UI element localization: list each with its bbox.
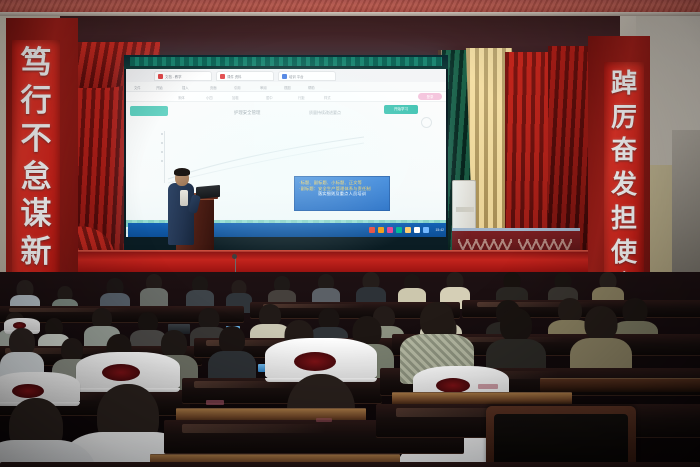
align-center-button[interactable]: 居中 xyxy=(266,95,273,100)
browser-icon[interactable] xyxy=(369,227,375,233)
auditorium-photo: 文档 - 教学 课件 资料 培训 平台 文件 开始 插入 页面 引用 审阅 xyxy=(0,0,700,467)
screen-green-strip xyxy=(130,57,442,66)
audience-member xyxy=(356,272,386,306)
taskbar-clock: 15:42 xyxy=(436,228,445,232)
highlight-callout-box: ·标题、副标题、小标题、正文等 ·副标题：安全生产管理体系与责任制 落实细则及重… xyxy=(294,176,390,211)
toolbar-item-file[interactable]: 文件 xyxy=(134,85,141,90)
browser-tab[interactable]: 文档 - 教学 xyxy=(154,71,212,81)
folder-icon[interactable] xyxy=(405,227,411,233)
volume-icon[interactable] xyxy=(423,227,429,233)
banner-char: 不 xyxy=(21,123,52,154)
tab-title: 课件 资料 xyxy=(227,74,242,79)
banner-char: 担 xyxy=(611,205,637,231)
toolbar-item-ref[interactable]: 引用 xyxy=(234,85,241,90)
foreground-seat-back xyxy=(486,406,636,467)
screen-top-bar xyxy=(124,55,448,69)
nurse-cap-bow xyxy=(436,378,470,393)
front-row-bench xyxy=(0,462,700,467)
nurse-cap-bow xyxy=(102,364,140,381)
browser-tab[interactable]: 培训 平台 xyxy=(278,71,336,81)
banner-char: 厉 xyxy=(611,104,637,130)
browser-tab-strip: 文档 - 教学 课件 资料 培训 平台 xyxy=(126,69,446,82)
toolbar-item-view[interactable]: 视图 xyxy=(284,85,291,90)
stage-apron xyxy=(58,252,638,274)
banner-char: 奋 xyxy=(611,137,637,163)
tab-favicon-icon xyxy=(220,74,225,79)
floor-microphone xyxy=(232,254,237,259)
audience-member xyxy=(140,274,168,306)
chat-icon[interactable] xyxy=(378,227,384,233)
document-subheading: 质量持续改进要点 xyxy=(309,110,341,116)
right-vertical-banner: 踔 厉 奋 发 担 使 命 xyxy=(604,62,644,306)
banner-char: 怠 xyxy=(21,161,52,192)
start-learning-chip[interactable]: 开始学习 xyxy=(384,105,418,114)
document-axis xyxy=(164,131,165,183)
document-heading: 护理安全管理 xyxy=(234,110,260,116)
audience-member xyxy=(186,276,214,308)
banner-char: 发 xyxy=(611,171,637,197)
document-circle-graphic xyxy=(421,117,432,128)
doc-icon[interactable] xyxy=(414,227,420,233)
banner-char: 新 xyxy=(21,236,52,267)
toolbar-item-home[interactable]: 开始 xyxy=(156,85,163,90)
presenter-hair xyxy=(174,168,190,176)
page-left-chip xyxy=(130,106,168,116)
toolbar-item-page[interactable]: 页面 xyxy=(210,85,217,90)
tab-favicon-icon xyxy=(282,74,287,79)
paper-on-desk xyxy=(206,400,224,405)
banner-char: 谋 xyxy=(21,198,52,229)
audience-hall xyxy=(0,272,700,467)
toolbar-item-insert[interactable]: 插入 xyxy=(182,85,189,90)
font-size[interactable]: 小四 xyxy=(206,95,213,100)
account-pill[interactable]: 登录 xyxy=(418,93,442,100)
styles-button[interactable]: 样式 xyxy=(324,95,331,100)
banner-char: 行 xyxy=(21,85,52,116)
nurse-foreground xyxy=(0,384,96,467)
browser-tab[interactable]: 课件 资料 xyxy=(216,71,274,81)
empty-desk-row xyxy=(540,378,700,392)
toolbar-item-help[interactable]: 帮助 xyxy=(308,85,315,90)
banner-char: 踔 xyxy=(611,70,637,96)
tab-favicon-icon xyxy=(158,74,163,79)
cloud-icon[interactable] xyxy=(396,227,402,233)
bold-button[interactable]: 加粗 xyxy=(232,95,239,100)
toolbar-item-review[interactable]: 审阅 xyxy=(260,85,267,90)
paper-on-desk xyxy=(478,384,498,389)
font-name[interactable]: 宋体 xyxy=(178,95,185,100)
line-spacing-button[interactable]: 行距 xyxy=(298,95,305,100)
banner-char: 笃 xyxy=(21,47,52,78)
callout-line-3: 落实细则及重点人员培训 xyxy=(299,191,385,197)
nurse-cap-bow xyxy=(294,352,336,371)
paper-on-desk xyxy=(316,418,332,422)
format-bar: 宋体 小四 加粗 居中 行距 样式 xyxy=(126,92,446,102)
media-icon[interactable] xyxy=(387,227,393,233)
document-toolbar: 文件 开始 插入 页面 引用 审阅 视图 帮助 xyxy=(126,82,446,92)
presenter-shirt xyxy=(180,190,188,206)
nurse-cap-bow xyxy=(12,384,44,398)
tab-title: 培训 平台 xyxy=(289,74,304,79)
banner-char: 使 xyxy=(611,239,637,265)
tab-title: 文档 - 教学 xyxy=(165,74,182,79)
document-bullets xyxy=(161,133,163,169)
